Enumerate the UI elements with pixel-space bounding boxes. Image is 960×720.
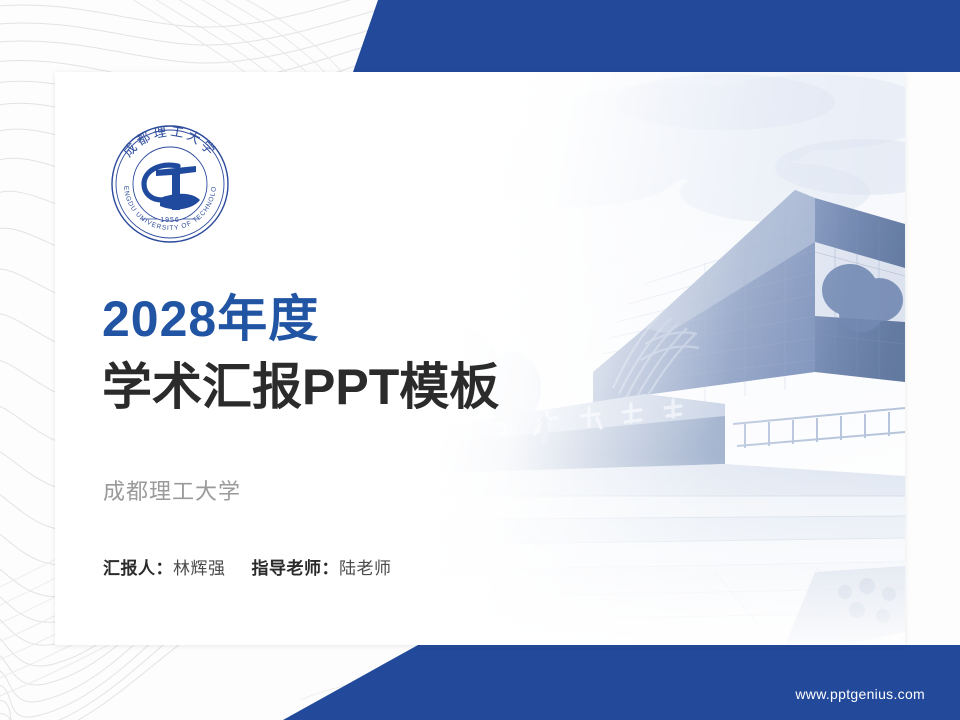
presenter-label: 汇报人： <box>103 559 173 578</box>
presentation-slide: 成都理工大学 CHENGDU UNIVERSITY OF TECHNOLOGY <box>0 0 960 720</box>
svg-text:1956: 1956 <box>160 217 180 224</box>
slide-title-year: 2028年度 <box>102 294 319 344</box>
footer-website-url[interactable]: www.pptgenius.com <box>795 686 925 702</box>
content-card: 成都理工大学 CHENGDU UNIVERSITY OF TECHNOLOGY <box>55 72 905 645</box>
presenter-name: 林辉强 <box>173 559 226 578</box>
slide-title-main: 学术汇报PPT模板 <box>102 362 499 412</box>
university-seal-logo: 成都理工大学 CHENGDU UNIVERSITY OF TECHNOLOGY <box>100 114 240 254</box>
advisor-label: 指导老师： <box>252 559 340 578</box>
presenter-advisor-row: 汇报人：林辉强指导老师：陆老师 <box>103 554 392 579</box>
organization-name: 成都理工大学 <box>103 474 241 506</box>
advisor-name: 陆老师 <box>339 559 392 578</box>
card-content: 成都理工大学 CHENGDU UNIVERSITY OF TECHNOLOGY <box>100 72 660 645</box>
